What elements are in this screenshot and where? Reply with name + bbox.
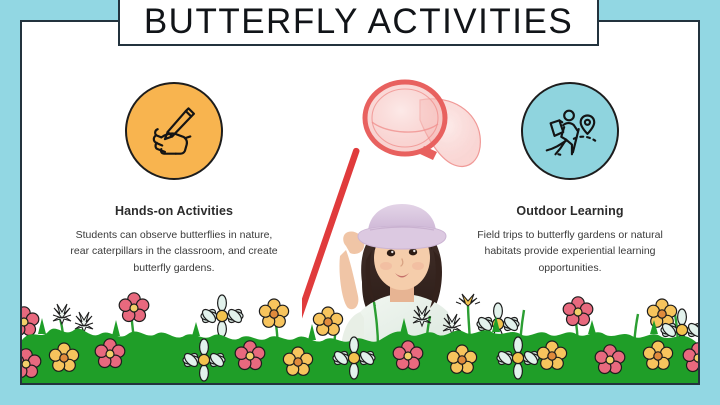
page-title: BUTTERFLY ACTIVITIES — [144, 4, 573, 39]
hiker-with-map-pin-icon — [521, 82, 619, 180]
slide-title-box: BUTTERFLY ACTIVITIES — [118, 0, 599, 46]
card-body-text: Field trips to butterfly gardens or natu… — [462, 227, 678, 276]
card-body-text: Students can observe butterflies in natu… — [66, 227, 282, 276]
slide-frame: Hands-on Activities Students can observe… — [20, 20, 700, 385]
column-hands-on: Hands-on Activities Students can observe… — [44, 82, 304, 276]
column-outdoor-learning: Outdoor Learning Field trips to butterfl… — [440, 82, 700, 276]
slide-root: Hands-on Activities Students can observe… — [0, 0, 720, 405]
hand-holding-pencil-icon — [125, 82, 223, 180]
card-heading: Hands-on Activities — [44, 204, 304, 218]
card-heading: Outdoor Learning — [440, 204, 700, 218]
